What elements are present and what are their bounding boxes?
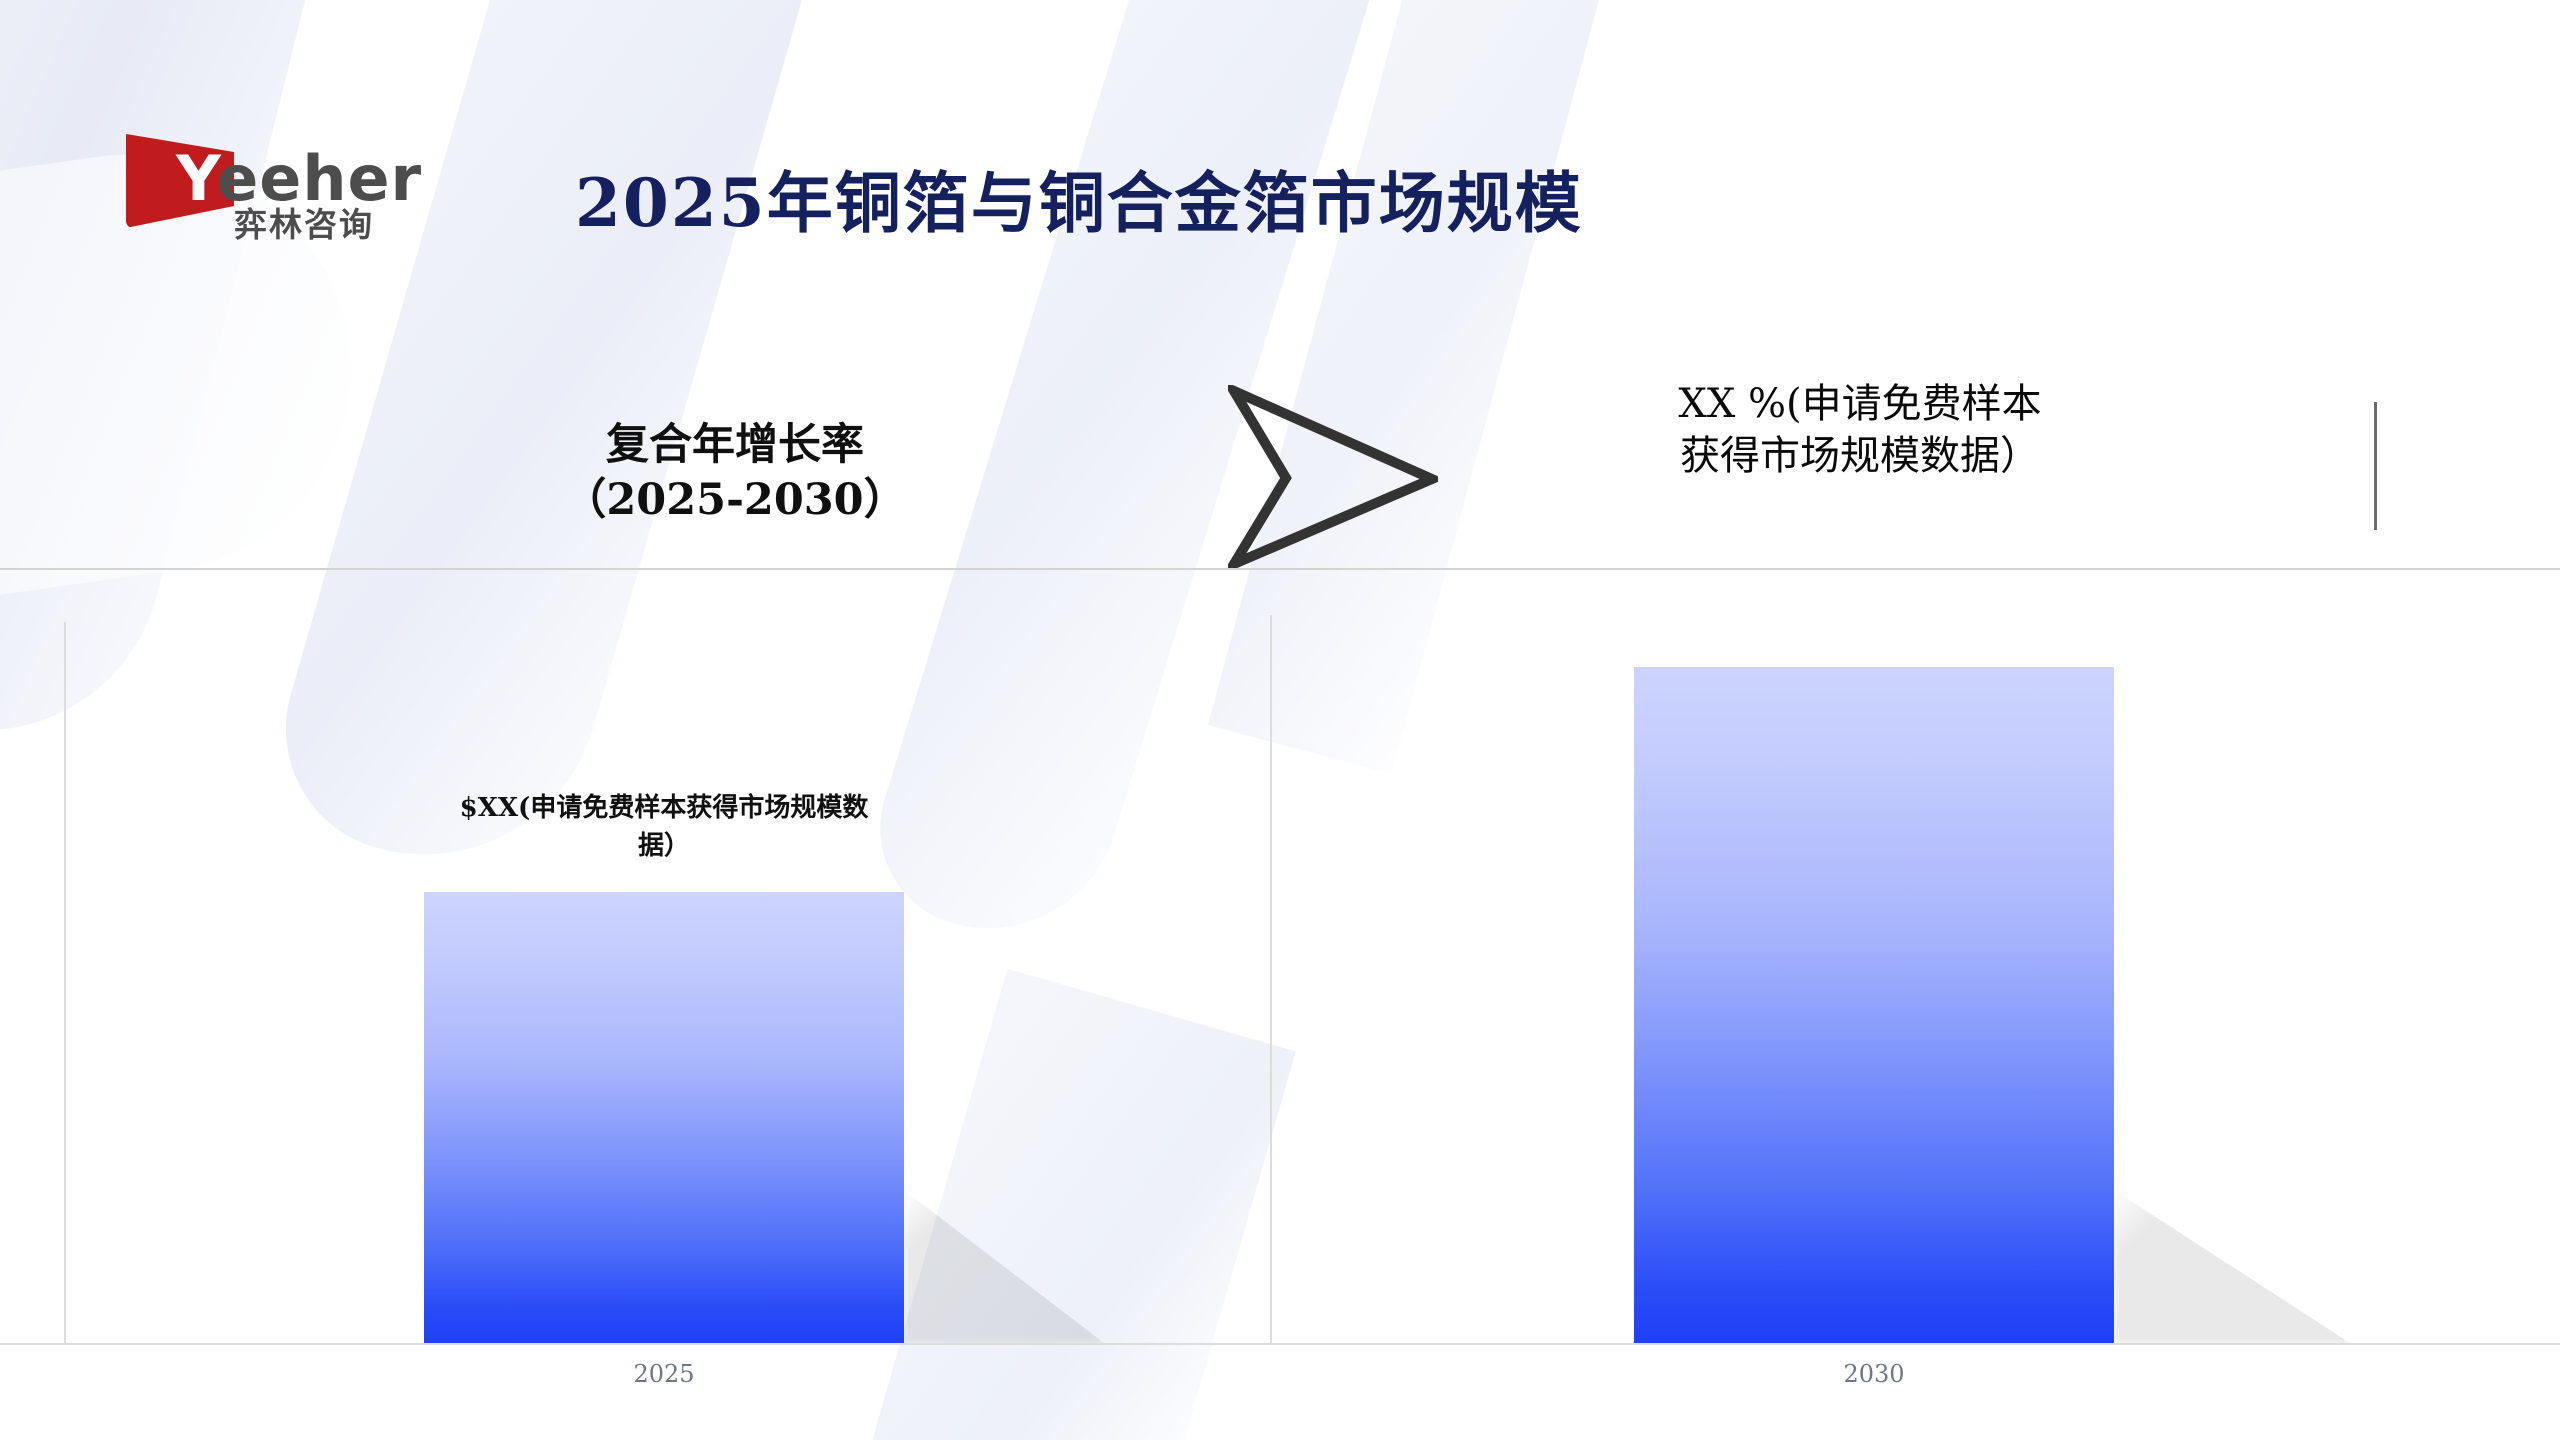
logo-chinese-name: 弈林咨询 xyxy=(234,208,374,241)
slide-root: Yeeher 弈林咨询 2025年铜箔与铜合金箔市场规模 复合年增长率 （202… xyxy=(0,0,2560,1440)
page-title: 2025年铜箔与铜合金箔市场规模 xyxy=(575,150,1583,246)
send-arrow-icon xyxy=(1228,385,1438,570)
cagr-value-line2: 获得市场规模数据） xyxy=(1620,430,2100,482)
bar-value-label-2025: $XX(申请免费样本获得市场规模数据） xyxy=(448,790,880,865)
chart-baseline xyxy=(0,1343,2560,1345)
chart-mid-divider xyxy=(1270,615,1272,1343)
bar-2030[interactable] xyxy=(1634,667,2114,1343)
cagr-label: 复合年增长率 （2025-2030） xyxy=(545,418,925,528)
logo-wordmark: Yeeher xyxy=(176,148,422,210)
cagr-value-line1: XX %(申请免费样本 xyxy=(1620,378,2100,430)
cagr-value: XX %(申请免费样本 获得市场规模数据） xyxy=(1620,378,2100,482)
x-axis-tick-2025: 2025 xyxy=(514,1360,814,1388)
logo-letter-y: Y xyxy=(176,142,216,215)
bar-2025[interactable] xyxy=(424,892,904,1343)
x-axis-tick-2030: 2030 xyxy=(1724,1360,2024,1388)
cagr-label-line1: 复合年增长率 xyxy=(545,418,925,473)
cagr-label-line2: （2025-2030） xyxy=(545,473,925,528)
right-divider xyxy=(2374,402,2377,530)
brand-logo: Yeeher 弈林咨询 xyxy=(126,128,456,238)
